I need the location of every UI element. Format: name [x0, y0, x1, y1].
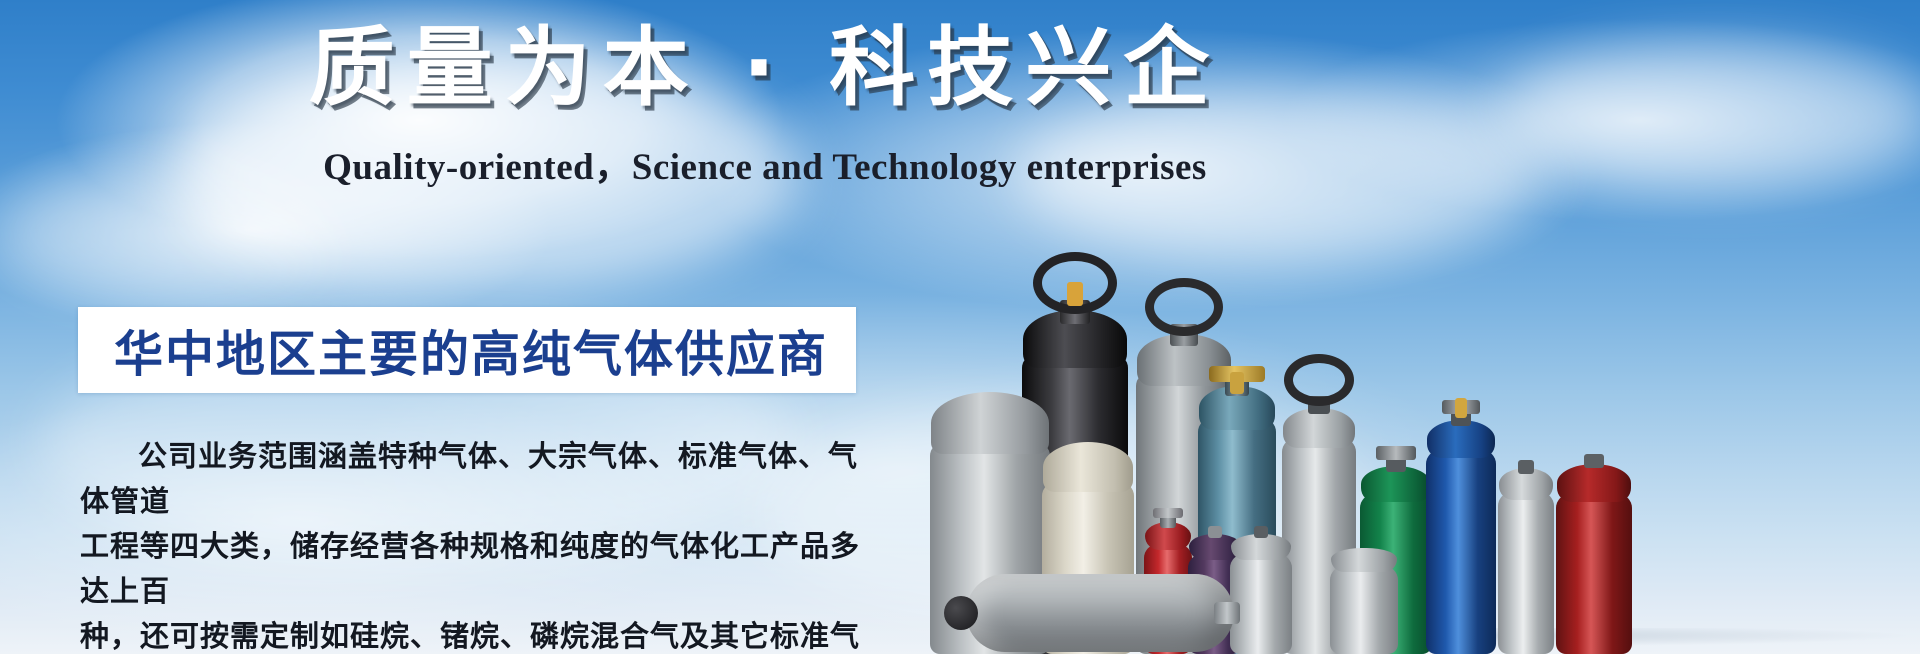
dark-red-cylinder [1556, 446, 1632, 654]
aluminium-cylinder [1498, 442, 1554, 654]
banner-headline: 质量为本 · 科技兴企 [0, 22, 1530, 115]
gas-cylinders-image [930, 140, 1920, 654]
aluminium-cylinder [1330, 538, 1398, 654]
body-line-2: 工程等四大类，储存经营各种规格和纯度的气体化工产品多达上百 [80, 524, 870, 614]
slogan-box: 华中地区主要的高纯气体供应商 [78, 307, 856, 393]
body-line-3: 种，还可按需定制如硅烷、锗烷、磷烷混合气及其它标准气体。 [80, 614, 870, 654]
slogan-text: 华中地区主要的高纯气体供应商 [114, 315, 828, 386]
hero-banner: 质量为本 · 科技兴企 Quality-oriented，Science and… [0, 0, 1920, 654]
blue-cylinder [1426, 390, 1496, 654]
body-line-1: 公司业务范围涵盖特种气体、大宗气体、标准气体、气体管道 [80, 434, 870, 524]
body-copy: 公司业务范围涵盖特种气体、大宗气体、标准气体、气体管道 工程等四大类，储存经营各… [80, 434, 870, 654]
aluminium-cylinder [1230, 522, 1292, 654]
horizontal-grey-tank [966, 574, 1234, 652]
